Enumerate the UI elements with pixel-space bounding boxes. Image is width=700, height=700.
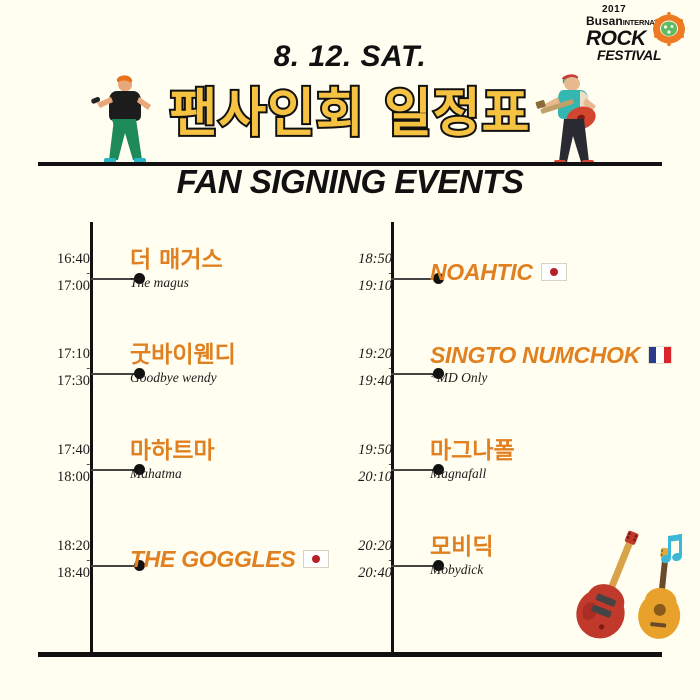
time-dash: - (30, 269, 90, 277)
time-end: 18:00 (57, 469, 90, 485)
artist-name-kr: 굿바이웬디 (130, 341, 236, 369)
time-range: 17:40 - 18:00 (30, 441, 90, 487)
time-range: 18:50 - 19:10 (332, 250, 392, 296)
time-end: 18:40 (57, 565, 90, 581)
time-start: 17:40 (57, 442, 90, 458)
flag-france-icon (648, 346, 672, 364)
artist-name-en: The magus (130, 274, 223, 291)
time-start: 19:50 (358, 442, 392, 458)
artist-name-kr: 마하트마 (130, 437, 215, 465)
time-start: 20:20 (358, 538, 392, 554)
flag-japan-icon (303, 550, 329, 568)
time-range: 19:20 - 19:40 (332, 345, 392, 391)
artist-name-en: Goodbye wendy (130, 369, 236, 386)
flag-japan-icon (541, 263, 567, 281)
artist-name-en: Mobydick (430, 561, 493, 578)
time-dash: - (332, 269, 392, 277)
electric-and-acoustic-guitars-icon (566, 528, 696, 653)
artist-names: 굿바이웬디 Goodbye wendy (130, 341, 236, 386)
artist-names: THE GOGGLES (130, 545, 329, 573)
schedule-row[interactable]: 19:20 - 19:40 SINGTO NUMCHOK *MD Only (332, 345, 682, 405)
schedule-row[interactable]: 16:40 - 17:00 더 매거스 The magus (30, 250, 370, 310)
time-dash: - (332, 460, 392, 468)
time-dash: - (332, 556, 392, 564)
artist-name-text: SINGTO NUMCHOK (430, 342, 640, 368)
time-end: 17:00 (57, 278, 90, 294)
time-dash: - (30, 364, 90, 372)
artist-name-kr: 모비딕 (430, 533, 493, 561)
time-range: 17:10 - 17:30 (30, 345, 90, 391)
artist-names: 모비딕 Mobydick (430, 533, 493, 578)
artist-names: 마하트마 Mahatma (130, 437, 215, 482)
artist-names: 더 매거스 The magus (130, 246, 223, 291)
time-dash: - (30, 556, 90, 564)
time-start: 19:20 (358, 346, 392, 362)
schedule-row[interactable]: 18:50 - 19:10 NOAHTIC (332, 250, 682, 310)
schedule-board: 16:40 - 17:00 더 매거스 The magus 17:10 - 17… (0, 0, 700, 700)
schedule-row[interactable]: 17:40 - 18:00 마하트마 Mahatma (30, 441, 370, 501)
time-end: 17:30 (57, 373, 90, 389)
time-start: 17:10 (57, 346, 90, 362)
time-end: 19:10 (358, 278, 392, 294)
time-range: 16:40 - 17:00 (30, 250, 90, 296)
time-start: 18:20 (57, 538, 90, 554)
time-range: 20:20 - 20:40 (332, 537, 392, 583)
time-dash: - (30, 460, 90, 468)
schedule-row[interactable]: 17:10 - 17:30 굿바이웬디 Goodbye wendy (30, 345, 370, 405)
time-end: 20:10 (358, 469, 392, 485)
artist-name-en: Magnafall (430, 465, 515, 482)
artist-name-kr: THE GOGGLES (130, 545, 329, 573)
artist-names: 마그나폴 Magnafall (430, 437, 515, 482)
schedule-row[interactable]: 18:20 - 18:40 THE GOGGLES (30, 537, 370, 597)
artist-name-kr: 마그나폴 (430, 437, 515, 465)
time-end: 19:40 (358, 373, 392, 389)
time-dash: - (332, 364, 392, 372)
schedule-row[interactable]: 19:50 - 20:10 마그나폴 Magnafall (332, 441, 682, 501)
poster-canvas: 2017 BusanINTERNATIONAL ROCK FESTIVAL 8.… (0, 0, 700, 700)
artist-name-en: *MD Only (430, 369, 672, 386)
time-end: 20:40 (358, 565, 392, 581)
artist-name-text: THE GOGGLES (130, 546, 295, 572)
artist-name-kr: NOAHTIC (430, 258, 567, 286)
footer-divider (38, 652, 662, 657)
time-start: 16:40 (57, 251, 90, 267)
artist-name-kr: SINGTO NUMCHOK (430, 341, 672, 369)
time-start: 18:50 (358, 251, 392, 267)
artist-name-kr: 더 매거스 (130, 246, 223, 274)
artist-name-text: NOAHTIC (430, 259, 533, 285)
artist-names: NOAHTIC (430, 258, 567, 286)
artist-names: SINGTO NUMCHOK *MD Only (430, 341, 672, 386)
time-range: 18:20 - 18:40 (30, 537, 90, 583)
artist-name-en: Mahatma (130, 465, 215, 482)
time-range: 19:50 - 20:10 (332, 441, 392, 487)
